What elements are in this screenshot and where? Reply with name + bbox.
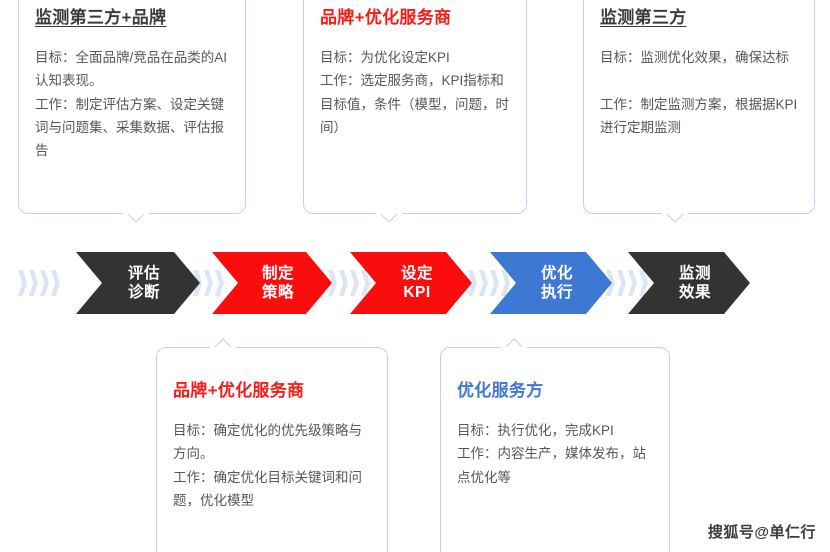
card-body: 优化服务方 目标：执行优化，完成KPI 工作：内容生产，媒体发布，站点优化等 [441,348,669,489]
chevron-tick-icon [617,270,626,296]
callout-tail-down [123,213,149,226]
chevron-tick-icon [204,270,213,296]
card-body: 品牌+优化服务商 目标：确定优化的优先级策略与方向。 工作：确定优化目标关键词和… [157,348,387,512]
card-text: 目标：确定优化的优先级策略与方向。 工作：确定优化目标关键词和问题，优化模型 [173,419,371,512]
watermark-label: 搜狐号@单仁行 [708,521,816,542]
card-title: 优化服务方 [457,380,653,401]
card-body: 监测第三方+品牌 目标：全面品牌/竞品在品类的AI认知表现。 工作：制定评估方案… [19,0,245,162]
chevron-tick-icon [29,270,38,296]
chevron-tick-icon [40,270,49,296]
callout-card-top-2: 品牌+优化服务商 目标：为优化设定KPI 工作：选定服务商，KPI指标和目标值，… [303,0,527,214]
process-flow: 评估 诊断 制定 策略 设定 KPI 优化 执行 监测 效果 [0,252,830,338]
callout-card-bottom-1: 品牌+优化服务商 目标：确定优化的优先级策略与方向。 工作：确定优化目标关键词和… [156,347,388,552]
callout-card-bottom-2: 优化服务方 目标：执行优化，完成KPI 工作：内容生产，媒体发布，站点优化等 [440,347,670,552]
flow-ticks-group-3 [328,269,370,297]
flow-step-1[interactable]: 评估 诊断 [76,252,200,314]
diagram-canvas: 监测第三方+品牌 目标：全面品牌/竞品在品类的AI认知表现。 工作：制定评估方案… [0,0,830,552]
flow-step-2[interactable]: 制定 策略 [212,252,332,314]
chevron-tick-icon [18,270,27,296]
chevron-tick-icon [339,270,348,296]
chevron-tick-icon [215,270,224,296]
chevron-tick-icon [490,270,499,296]
callout-tail-down [376,213,402,226]
card-title: 品牌+优化服务商 [173,380,371,401]
callout-card-top-1: 监测第三方+品牌 目标：全面品牌/竞品在品类的AI认知表现。 工作：制定评估方案… [18,0,246,214]
card-title: 监测第三方 [600,7,798,28]
flow-ticks-group-5 [606,269,648,297]
card-text: 目标：监测优化效果，确保达标 工作：制定监测方案，根据据KPI进行定期监测 [600,46,798,139]
card-text: 目标：执行优化，完成KPI 工作：内容生产，媒体发布，站点优化等 [457,419,653,489]
card-body: 品牌+优化服务商 目标：为优化设定KPI 工作：选定服务商，KPI指标和目标值，… [304,0,526,139]
flow-ticks-group-4 [468,269,510,297]
card-title: 品牌+优化服务商 [320,7,510,28]
callout-card-top-3: 监测第三方 目标：监测优化效果，确保达标 工作：制定监测方案，根据据KPI进行定… [583,0,815,214]
card-title: 监测第三方+品牌 [35,7,229,28]
chevron-tick-icon [350,270,359,296]
card-body: 监测第三方 目标：监测优化效果，确保达标 工作：制定监测方案，根据据KPI进行定… [584,0,814,139]
chevron-tick-icon [51,270,60,296]
chevron-tick-icon [479,270,488,296]
card-text: 目标：全面品牌/竞品在品类的AI认知表现。 工作：制定评估方案、设定关键词与问题… [35,46,229,162]
card-text: 目标：为优化设定KPI 工作：选定服务商，KPI指标和目标值，条件（模型，问题，… [320,46,510,139]
callout-tail-down [662,213,688,226]
flow-ticks-group-1 [18,269,60,297]
chevron-tick-icon [628,270,637,296]
